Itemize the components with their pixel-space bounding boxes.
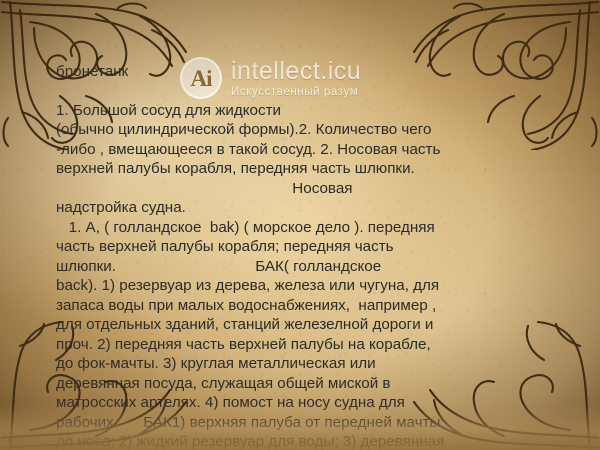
document-page: Ai intellect.icu Искусственный разум бро…	[0, 0, 600, 450]
headword: бронетанк	[56, 62, 566, 82]
article-text: бронетанк 1. Большой сосуд для жидкости …	[56, 62, 566, 450]
article-paragraph-1: 1. Большой сосуд для жидкости (обычно ци…	[56, 101, 566, 218]
article-paragraph-2: 1. А, ( голландское bak) ( морское дело …	[56, 218, 566, 450]
